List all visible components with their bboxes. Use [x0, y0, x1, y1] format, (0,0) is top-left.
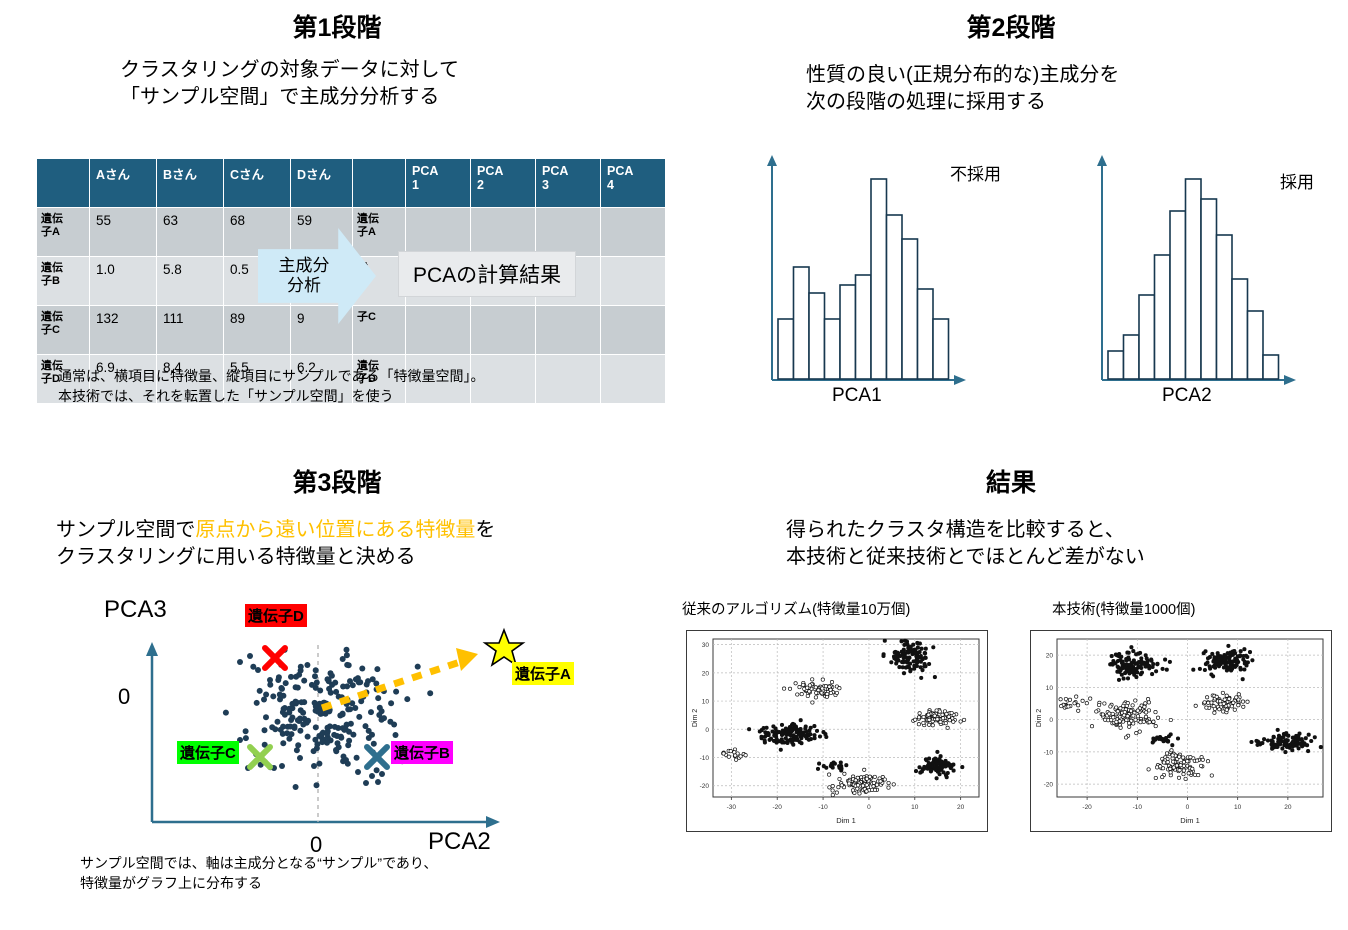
scatter-point — [887, 781, 890, 784]
gene-c-tag: 遺伝子C — [177, 741, 239, 764]
scatter-point — [1132, 714, 1135, 717]
scatter-point — [427, 690, 433, 696]
scatter-point — [830, 680, 833, 683]
scatter-point — [938, 710, 941, 713]
scatter-point — [1219, 655, 1222, 658]
scatter-point — [831, 789, 834, 792]
scatter-point — [814, 686, 817, 689]
scatter-point — [1144, 711, 1147, 714]
col-header-pca3: PCA 3 — [536, 159, 601, 208]
scatter-point — [1073, 702, 1076, 705]
scatter-point — [369, 773, 375, 779]
scatter-point — [900, 640, 903, 643]
scatter-point — [1178, 755, 1181, 758]
scatter-point — [1278, 737, 1281, 740]
scatter-point — [293, 699, 299, 705]
scatter-point — [811, 678, 814, 681]
scatter-point — [904, 656, 907, 659]
x-axis-arrowhead — [486, 816, 500, 828]
scatter-point — [1218, 708, 1221, 711]
scatter-point — [312, 673, 318, 679]
scatter-point — [793, 726, 796, 729]
scatter-point — [288, 674, 294, 680]
scatter-point — [301, 678, 307, 684]
x-axis-tick-label: 20 — [957, 804, 965, 811]
scatter-point — [1235, 696, 1238, 699]
scatter-point — [1212, 665, 1215, 668]
scatter-point — [929, 768, 932, 771]
scatter-point — [1115, 706, 1118, 709]
histogram-bar — [887, 215, 903, 379]
scatter-point — [1237, 693, 1240, 696]
scatter-point — [1225, 708, 1228, 711]
scatter-point — [863, 768, 866, 771]
histogram-bar — [778, 319, 794, 379]
scatter-point — [914, 648, 917, 651]
scatter-point — [873, 775, 876, 778]
scatter-point — [821, 678, 824, 681]
scatter-point — [374, 767, 380, 773]
scatter-point — [920, 647, 923, 650]
scatter-point — [1194, 704, 1197, 707]
scatter-point — [1297, 734, 1300, 737]
scatter-point — [338, 735, 344, 741]
scatter-point — [784, 732, 787, 735]
scatter-point — [1124, 736, 1127, 739]
scatter-point — [813, 724, 816, 727]
scatter-point — [918, 766, 921, 769]
scatter-point — [1127, 651, 1130, 654]
scatter-point — [298, 707, 304, 713]
scatter-point — [1241, 678, 1244, 681]
pca-cell — [536, 208, 601, 257]
scatter-point — [366, 735, 372, 741]
scatter-point — [826, 692, 829, 695]
scatter-point — [286, 736, 292, 742]
scatter-point — [950, 764, 953, 767]
x-axis-tick-label: -30 — [727, 804, 737, 811]
result-left-caption: 従来のアルゴリズム(特徴量10万個) — [682, 598, 910, 619]
scatter-point — [1171, 744, 1174, 747]
scatter-point — [944, 722, 947, 725]
scatter-point — [332, 724, 338, 730]
scatter-point — [845, 764, 848, 767]
y-axis-tick-label: 10 — [1046, 685, 1054, 692]
scatter-point — [1285, 732, 1288, 735]
histogram-bar — [902, 239, 918, 379]
scatter-point — [865, 783, 868, 786]
scatter-point — [848, 782, 851, 785]
corner-cell — [37, 159, 90, 208]
scatter-point — [1233, 649, 1236, 652]
scatter-point — [270, 693, 276, 699]
gene-b-marker-icon — [367, 747, 387, 767]
scatter-point — [912, 643, 915, 646]
scatter-point — [1199, 764, 1202, 767]
scatter-point — [1076, 704, 1079, 707]
scatter-point — [1310, 739, 1313, 742]
scatter-point — [1115, 720, 1118, 723]
scatter-point — [1154, 776, 1157, 779]
y-axis-tick-label: 30 — [702, 642, 710, 649]
cell-b1: 1.0 — [90, 257, 157, 306]
pca-cell — [601, 306, 666, 355]
scatter-point — [1177, 776, 1180, 779]
x-axis-tick-label: -10 — [1133, 804, 1143, 811]
scatter-point — [804, 727, 807, 730]
scatter-point — [304, 662, 310, 668]
histogram-bar — [1232, 279, 1248, 379]
x-axis-tick-label: 0 — [867, 804, 871, 811]
scatter-point — [903, 660, 906, 663]
histogram-pca1-svg — [754, 150, 1044, 390]
y-axis-tick-label: 10 — [702, 699, 710, 706]
scatter-point — [914, 769, 917, 772]
scatter-point — [829, 691, 832, 694]
arrow-label-line1: 主成分 — [279, 256, 330, 276]
scatter-point — [1272, 736, 1275, 739]
scatter-point — [1165, 668, 1168, 671]
scatter-point — [1112, 716, 1115, 719]
scatter-point — [1103, 702, 1106, 705]
histogram-bar — [871, 179, 887, 379]
scatter-point — [1178, 769, 1181, 772]
scatter-point — [262, 727, 268, 733]
scatter-point — [895, 652, 898, 655]
scatter-point — [892, 783, 895, 786]
scatter-point — [858, 792, 861, 795]
scatter-point — [1154, 724, 1157, 727]
scatter-point — [902, 672, 905, 675]
scatter-point — [918, 650, 921, 653]
col-header-line2: 4 — [607, 178, 659, 192]
scatter-point — [1230, 705, 1233, 708]
scatter-point — [915, 664, 918, 667]
stage3-caption-line1: サンプル空間では、軸は主成分となる“サンプル”であり、 — [80, 853, 640, 873]
scatter-point — [822, 730, 825, 733]
scatter-point — [1248, 650, 1251, 653]
sample-space-scatter-svg — [60, 590, 620, 840]
scatter-point — [1150, 672, 1153, 675]
scatter-point — [301, 716, 307, 722]
scatter-point — [897, 659, 900, 662]
scatter-point — [297, 755, 303, 761]
scatter-point — [760, 728, 763, 731]
scatter-point — [1171, 754, 1174, 757]
scatter-point — [1206, 760, 1209, 763]
scatter-point — [324, 740, 330, 746]
scatter-point — [914, 718, 917, 721]
col-header-b: Bさん — [157, 159, 224, 208]
pca-cell — [406, 208, 471, 257]
scatter-point — [924, 647, 927, 650]
histogram-bar — [1263, 355, 1279, 379]
row-header-line2: 子B — [41, 275, 85, 288]
scatter-point — [775, 738, 778, 741]
scatter-point — [920, 676, 923, 679]
scatter-point — [1282, 736, 1285, 739]
scatter-x-axis-label: PCA2 — [428, 828, 491, 856]
scatter-point — [1284, 750, 1287, 753]
histogram-bar — [933, 319, 949, 379]
x-axis-arrowhead — [954, 375, 966, 385]
scatter-point — [865, 790, 868, 793]
scatter-point — [912, 660, 915, 663]
scatter-point — [293, 784, 299, 790]
scatter-point — [1132, 649, 1135, 652]
col-header-line2: 1 — [412, 178, 464, 192]
scatter-point — [840, 784, 843, 787]
scatter-point — [1081, 699, 1084, 702]
scatter-point — [1154, 710, 1157, 713]
scatter-point — [809, 726, 812, 729]
scatter-point — [903, 643, 906, 646]
scatter-point — [950, 711, 953, 714]
scatter-point — [837, 765, 840, 768]
scatter-point — [1134, 653, 1137, 656]
scatter-point — [1118, 670, 1121, 673]
scatter-point — [1090, 725, 1093, 728]
scatter-point — [1127, 722, 1130, 725]
row-header-gene-c: 子C — [353, 306, 406, 355]
scatter-point — [1125, 657, 1128, 660]
scatter-point — [1108, 712, 1111, 715]
sample-space-scatter: 遺伝子D 遺伝子A 遺伝子C 遺伝子B PCA3 0 0 PCA2 — [60, 590, 620, 840]
y-axis-tick-label: 0 — [705, 727, 709, 734]
scatter-point — [1300, 738, 1303, 741]
scatter-point — [267, 677, 273, 683]
scatter-point — [1243, 648, 1246, 651]
scatter-y-axis-label: PCA3 — [104, 596, 167, 624]
scatter-point — [772, 725, 775, 728]
x-axis-tick-label: 10 — [1234, 804, 1242, 811]
scatter-point — [827, 773, 830, 776]
scatter-point — [1237, 704, 1240, 707]
scatter-point — [917, 723, 920, 726]
scatter-point — [824, 685, 827, 688]
scatter-point — [1276, 728, 1279, 731]
gene-b-tag: 遺伝子B — [391, 741, 453, 764]
scatter-point — [939, 720, 942, 723]
scatter-point — [1169, 718, 1172, 721]
scatter-point — [962, 718, 965, 721]
scatter-point — [1075, 695, 1078, 698]
scatter-point — [278, 727, 284, 733]
scatter-point — [1257, 741, 1260, 744]
hist-pca1-badge: 不採用 — [950, 160, 1001, 185]
scatter-point — [799, 735, 802, 738]
scatter-point — [917, 716, 920, 719]
scatter-point — [393, 732, 399, 738]
stage1-subtitle-line2: 「サンプル空間」で主成分分析する — [120, 84, 640, 111]
scatter-point — [1181, 756, 1184, 759]
scatter-point — [354, 755, 360, 761]
scatter-point — [934, 757, 937, 760]
scatter-point — [1156, 716, 1159, 719]
stage3-subtitle-line1: サンプル空間で原点から遠い位置にある特徴量を — [56, 517, 656, 544]
x-axis-label: Dim 1 — [836, 816, 856, 825]
stage3-subtitle-pre: サンプル空間で — [56, 519, 195, 541]
pca-cell — [406, 306, 471, 355]
scatter-point — [283, 680, 289, 686]
scatter-point — [326, 678, 332, 684]
scatter-point — [1262, 738, 1265, 741]
row-header-line1: 遺伝 — [357, 213, 401, 226]
scatter-point — [1146, 697, 1149, 700]
scatter-point — [1266, 739, 1269, 742]
scatter-point — [925, 759, 928, 762]
stage3-subtitle: サンプル空間で原点から遠い位置にある特徴量を クラスタリングに用いる特徴量と決め… — [56, 517, 656, 571]
scatter-point — [279, 763, 285, 769]
row-header-line1: 遺伝 — [41, 262, 85, 275]
scatter-point — [802, 683, 805, 686]
row-header-gene-a: 遺伝 子A — [37, 208, 90, 257]
scatter-point — [1226, 666, 1229, 669]
stage1-caption-line2: 本技術では、それを転置した「サンプル空間」を使う — [58, 386, 658, 406]
scatter-point — [933, 675, 936, 678]
y-axis-tick-label: 20 — [702, 670, 710, 677]
scatter-point — [1313, 736, 1316, 739]
scatter-point — [247, 653, 253, 659]
scatter-point — [938, 773, 941, 776]
x-axis-tick-label: -10 — [818, 804, 828, 811]
result-subtitle: 得られたクラスタ構造を比較すると、 本技術と従来技術とでほとんど差がない — [786, 517, 1326, 571]
stage3-caption-line2: 特徴量がグラフ上に分布する — [80, 873, 640, 893]
scatter-point — [1250, 740, 1253, 743]
scatter-point — [287, 724, 293, 730]
scatter-point — [1123, 710, 1126, 713]
scatter-point — [297, 728, 303, 734]
gene-d-tag: 遺伝子D — [245, 604, 307, 627]
col-header-line1: PCA — [542, 164, 594, 178]
cell-c2: 111 — [157, 306, 224, 355]
scatter-point — [882, 654, 885, 657]
stage3-title: 第3段階 — [0, 463, 674, 499]
scatter-point — [1137, 660, 1140, 663]
x-axis-arrowhead — [1284, 375, 1296, 385]
scatter-point — [1144, 665, 1147, 668]
scatter-point — [1095, 710, 1098, 713]
scatter-point — [356, 714, 362, 720]
scatter-point — [1126, 677, 1129, 680]
scatter-point — [257, 688, 263, 694]
x-axis-tick-label: -20 — [1082, 804, 1092, 811]
scatter-point — [1165, 752, 1168, 755]
histogram-bar — [918, 289, 934, 379]
histogram-bar — [840, 285, 856, 379]
scatter-point — [1142, 720, 1145, 723]
histogram-bar — [1201, 199, 1217, 379]
scatter-point — [927, 723, 930, 726]
scatter-point — [1134, 699, 1137, 702]
scatter-point — [904, 666, 907, 669]
scatter-point — [1285, 739, 1288, 742]
scatter-point — [243, 728, 249, 734]
scatter-point — [902, 648, 905, 651]
scatter-point — [255, 667, 261, 673]
scatter-point — [1085, 702, 1088, 705]
table-header-row: Aさん Bさん Cさん Dさん — [37, 159, 358, 208]
gene-a-star-icon — [485, 630, 523, 665]
scatter-point — [1213, 656, 1216, 659]
scatter-point — [933, 764, 936, 767]
scatter-point — [767, 733, 770, 736]
scatter-point — [806, 694, 809, 697]
scatter-point — [831, 793, 834, 796]
scatter-point — [1077, 709, 1080, 712]
table-row: 遺伝 子A — [353, 208, 666, 257]
result-subtitle-line1: 得られたクラスタ構造を比較すると、 — [786, 517, 1326, 544]
scatter-point — [1154, 670, 1157, 673]
scatter-point — [325, 725, 331, 731]
scatter-point — [282, 712, 288, 718]
scatter-point — [765, 726, 768, 729]
panel-stage3: 第3段階 サンプル空間で原点から遠い位置にある特徴量を クラスタリングに用いる特… — [0, 455, 674, 930]
scatter-point — [1182, 772, 1185, 775]
scatter-point — [829, 764, 832, 767]
scatter-point — [1304, 737, 1307, 740]
row-header-line2: 子A — [357, 226, 401, 239]
scatter-point — [815, 729, 818, 732]
scatter-point — [1176, 737, 1179, 740]
scatter-point — [837, 786, 840, 789]
scatter-point — [333, 747, 339, 753]
scatter-point — [313, 708, 319, 714]
scatter-point — [915, 655, 918, 658]
scatter-point — [1109, 705, 1112, 708]
result-title: 結果 — [674, 463, 1348, 499]
scatter-point — [1242, 705, 1245, 708]
panel-stage1: 第1段階 クラスタリングの対象データに対して 「サンプル空間」で主成分分析する … — [0, 0, 674, 455]
scatter-point — [377, 705, 383, 711]
scatter-point — [908, 650, 911, 653]
scatter-point — [791, 722, 794, 725]
histogram-bar — [1186, 179, 1202, 379]
row-header-gene-a: 遺伝 子A — [353, 208, 406, 257]
scatter-point — [799, 719, 802, 722]
scatter-point — [952, 720, 955, 723]
cell-c4: 9 — [291, 306, 358, 355]
scatter-point — [1179, 764, 1182, 767]
scatter-point — [1246, 700, 1249, 703]
scatter-point — [1206, 657, 1209, 660]
scatter-point — [1175, 764, 1178, 767]
scatter-point — [831, 784, 834, 787]
histogram-bar — [1108, 351, 1124, 379]
scatter-point — [813, 737, 816, 740]
hist-pca2-badge: 採用 — [1280, 168, 1314, 193]
scatter-point — [1291, 749, 1294, 752]
scatter-point — [808, 684, 811, 687]
row-header-gene-b: 遺伝 子B — [37, 257, 90, 306]
scatter-point — [780, 723, 783, 726]
scatter-point — [316, 761, 322, 767]
scatter-point — [1270, 739, 1273, 742]
scatter-point — [1213, 711, 1216, 714]
scatter-point — [1172, 760, 1175, 763]
scatter-point — [809, 733, 812, 736]
scatter-point — [778, 730, 781, 733]
scatter-point — [1166, 760, 1169, 763]
scatter-point — [355, 769, 361, 775]
scatter-point — [1161, 667, 1164, 670]
stage3-subtitle-line2: クラスタリングに用いる特徴量と決める — [56, 544, 656, 571]
y-axis-label: Dim 2 — [1036, 709, 1043, 727]
table-row: 子C — [353, 306, 666, 355]
scatter-point — [1125, 663, 1128, 666]
scatter-point — [729, 749, 732, 752]
scatter-point — [828, 786, 831, 789]
